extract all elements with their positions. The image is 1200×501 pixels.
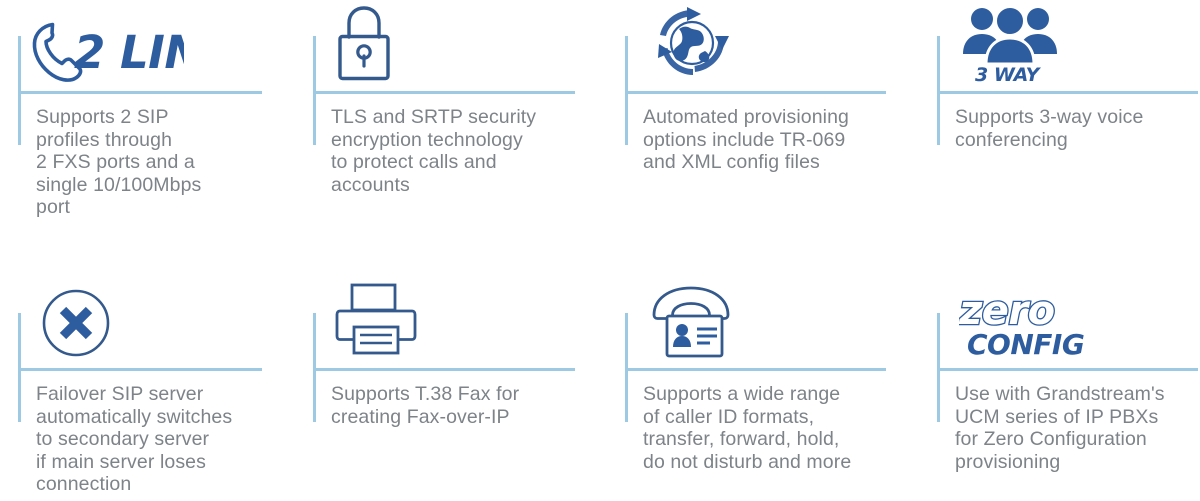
phone-caller-id-icon-svg xyxy=(649,285,745,361)
printer-fax-icon xyxy=(333,281,433,361)
accent-rule xyxy=(937,368,1198,371)
feature-cell-zero-config: zero CONFIG Use with Grandstream's UCM s… xyxy=(937,0,1198,250)
feature-text: Supports a wide range of caller ID forma… xyxy=(643,383,913,473)
printer-fax-icon-svg xyxy=(333,281,419,361)
feature-text: Failover SIP server automatically switch… xyxy=(36,383,280,496)
feature-cell-fax: Supports T.38 Fax for creating Fax-over-… xyxy=(313,0,575,250)
zero-config-icon-svg: zero CONFIG xyxy=(959,288,1091,362)
config-wordmark: CONFIG xyxy=(967,328,1084,361)
phone-caller-id-icon xyxy=(649,281,759,361)
feature-cell-caller-id: Supports a wide range of caller ID forma… xyxy=(625,0,886,250)
zero-config-icon: zero CONFIG xyxy=(959,284,1099,362)
feature-cell-failover: Failover SIP server automatically switch… xyxy=(18,0,262,250)
feature-text: Use with Grandstream's UCM series of IP … xyxy=(955,383,1200,473)
feature-text: Supports T.38 Fax for creating Fax-over-… xyxy=(331,383,593,428)
circle-x-icon-svg xyxy=(38,285,114,361)
accent-rule xyxy=(313,368,575,371)
accent-rule xyxy=(625,368,886,371)
accent-rule xyxy=(18,368,262,371)
circle-x-icon xyxy=(38,281,128,361)
feature-grid: 2 LINES Supports 2 SIP profiles through … xyxy=(0,0,1200,501)
